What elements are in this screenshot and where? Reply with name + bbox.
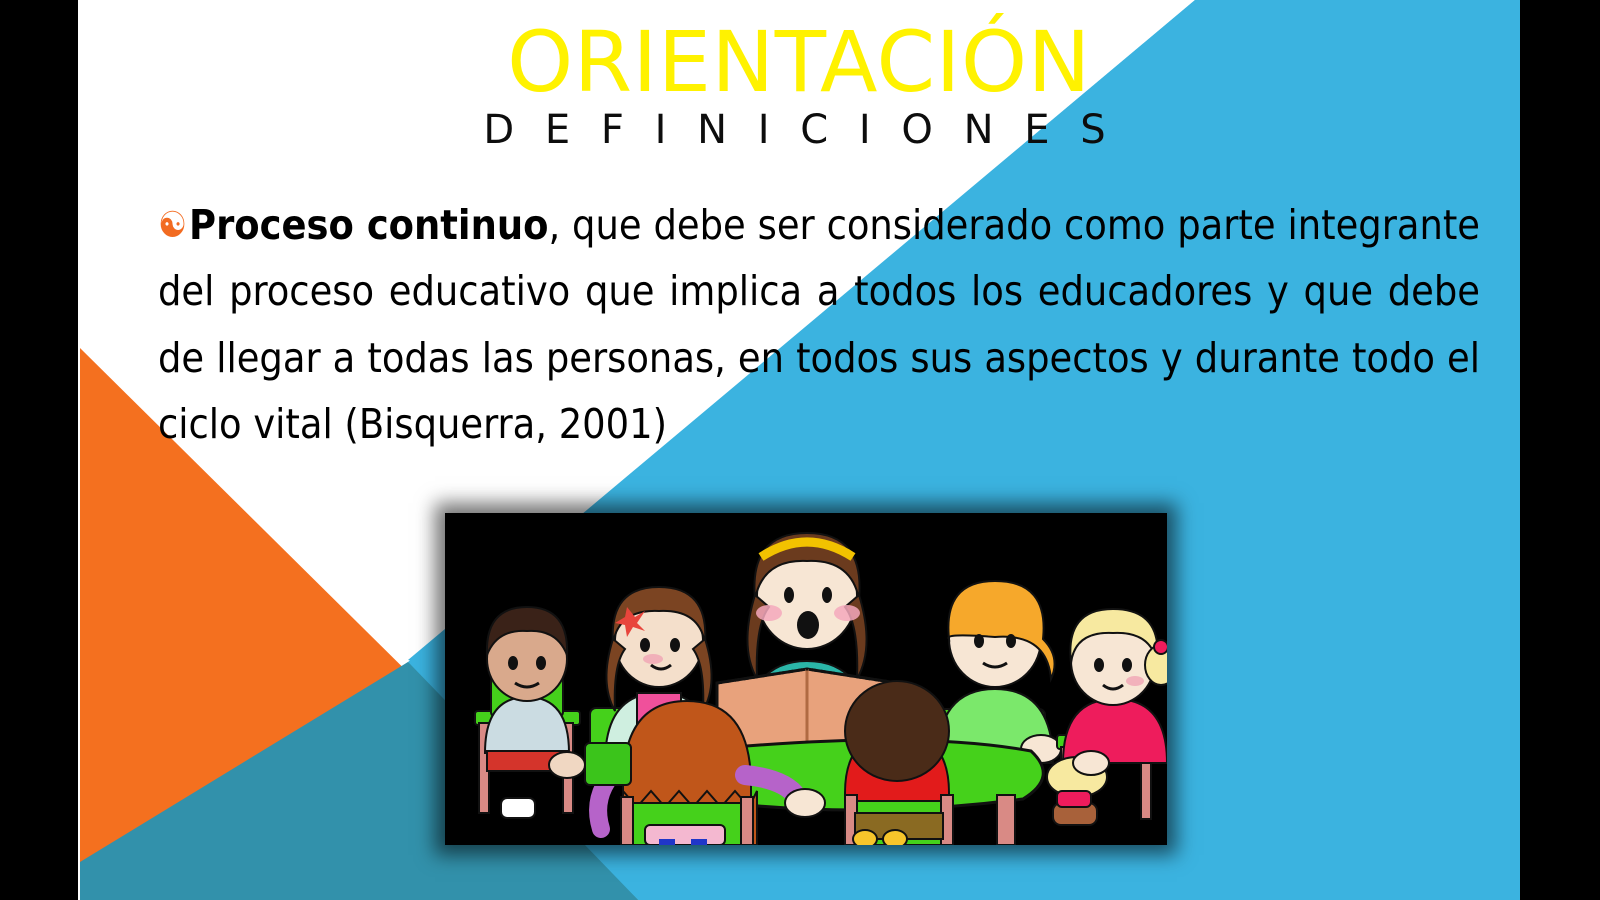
letterbox-right [1520, 0, 1600, 900]
clipart-green-bag [585, 743, 631, 785]
clipart-child-red-back [845, 681, 953, 845]
bullet-paragraph: ☯Proceso continuo, que debe ser consider… [158, 192, 1480, 458]
body-text-block: ☯Proceso continuo, que debe ser consider… [158, 192, 1480, 458]
bullet-lead-text: Proceso continuo [189, 201, 548, 249]
yin-yang-icon: ☯ [158, 205, 187, 246]
slide-canvas: ORIENTACIÓN D E F I N I C I O N E S ☯Pro… [78, 0, 1520, 900]
slide-root: ORIENTACIÓN D E F I N I C I O N E S ☯Pro… [0, 0, 1600, 900]
classroom-clipart-image [445, 513, 1167, 845]
letterbox-left [0, 0, 78, 900]
